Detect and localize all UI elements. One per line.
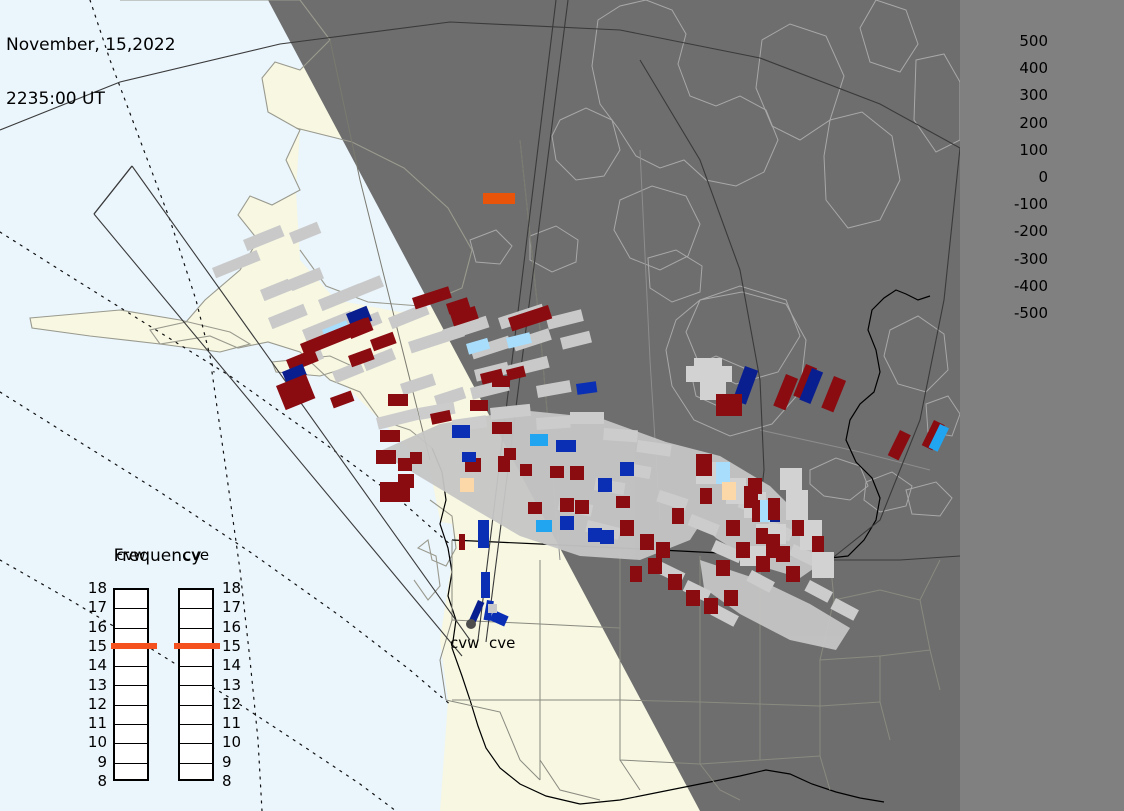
frequency-tick-cvw-17: 17 xyxy=(77,598,107,616)
frequency-cell xyxy=(180,764,212,783)
timestamp-time: 2235:00 UT xyxy=(6,90,176,108)
frequency-radar-name-cvw: cvw xyxy=(105,546,157,564)
frequency-tick-cvw-10: 10 xyxy=(77,733,107,751)
velocity-tick-400: 400 xyxy=(1019,59,1048,77)
velocity-tick-200: 200 xyxy=(1019,114,1048,132)
timestamp-date: November, 15,2022 xyxy=(6,36,176,54)
frequency-tick-cve-8: 8 xyxy=(222,772,232,790)
frequency-tick-cvw-16: 16 xyxy=(77,618,107,636)
velocity-tick-neg400: -400 xyxy=(1014,277,1048,295)
velocity-tick-100: 100 xyxy=(1019,141,1048,159)
frequency-tick-cvw-11: 11 xyxy=(77,714,107,732)
frequency-tick-cve-13: 13 xyxy=(222,676,241,694)
frequency-cell xyxy=(115,764,147,783)
frequency-value-marker-cve xyxy=(174,643,220,649)
frequency-tick-cve-12: 12 xyxy=(222,695,241,713)
frequency-cell xyxy=(115,706,147,725)
frequency-bar-cvw xyxy=(113,588,149,781)
frequency-cell xyxy=(115,725,147,744)
frequency-cell xyxy=(180,725,212,744)
frequency-cell xyxy=(180,744,212,763)
velocity-tick-0: 0 xyxy=(1038,168,1048,186)
velocity-tick-neg100: -100 xyxy=(1014,195,1048,213)
velocity-tick-500: 500 xyxy=(1019,32,1048,50)
velocity-tick-neg200: -200 xyxy=(1014,222,1048,240)
radar-map-app: November, 15,2022 2235:00 UT cvw cve Vel… xyxy=(0,0,1124,811)
frequency-cell xyxy=(180,609,212,628)
frequency-cell xyxy=(180,667,212,686)
frequency-tick-cve-16: 16 xyxy=(222,618,241,636)
frequency-tick-cvw-9: 9 xyxy=(77,753,107,771)
frequency-cell xyxy=(180,686,212,705)
frequency-cell xyxy=(115,590,147,609)
frequency-tick-cvw-8: 8 xyxy=(77,772,107,790)
frequency-cell xyxy=(115,609,147,628)
frequency-tick-cve-9: 9 xyxy=(222,753,232,771)
velocity-legend-panel: Velocity (m/s) 5004003002001000-100-200-… xyxy=(960,0,1124,811)
frequency-radar-name-cve: cve xyxy=(170,546,222,564)
site-label-cve: cve xyxy=(489,634,515,652)
frequency-tick-cvw-14: 14 xyxy=(77,656,107,674)
frequency-tick-cve-11: 11 xyxy=(222,714,241,732)
velocity-tick-300: 300 xyxy=(1019,86,1048,104)
velocity-tick-neg300: -300 xyxy=(1014,250,1048,268)
frequency-legend: Frequency cvw18171615141312111098cve1817… xyxy=(75,546,240,786)
frequency-tick-cve-14: 14 xyxy=(222,656,241,674)
frequency-tick-cvw-12: 12 xyxy=(77,695,107,713)
frequency-cell xyxy=(115,744,147,763)
frequency-cell xyxy=(115,667,147,686)
frequency-cell xyxy=(180,648,212,667)
frequency-cell xyxy=(115,648,147,667)
timestamp-block: November, 15,2022 2235:00 UT xyxy=(6,0,176,144)
frequency-tick-cve-18: 18 xyxy=(222,579,241,597)
frequency-tick-cvw-18: 18 xyxy=(77,579,107,597)
site-label-cvw: cvw xyxy=(450,634,479,652)
frequency-tick-cve-17: 17 xyxy=(222,598,241,616)
frequency-cell xyxy=(115,686,147,705)
frequency-tick-cve-10: 10 xyxy=(222,733,241,751)
frequency-cell xyxy=(180,706,212,725)
frequency-value-marker-cvw xyxy=(111,643,157,649)
frequency-tick-cve-15: 15 xyxy=(222,637,241,655)
frequency-bar-cve xyxy=(178,588,214,781)
velocity-tick-neg500: -500 xyxy=(1014,304,1048,322)
frequency-tick-cvw-15: 15 xyxy=(77,637,107,655)
frequency-tick-cvw-13: 13 xyxy=(77,676,107,694)
frequency-cell xyxy=(180,590,212,609)
